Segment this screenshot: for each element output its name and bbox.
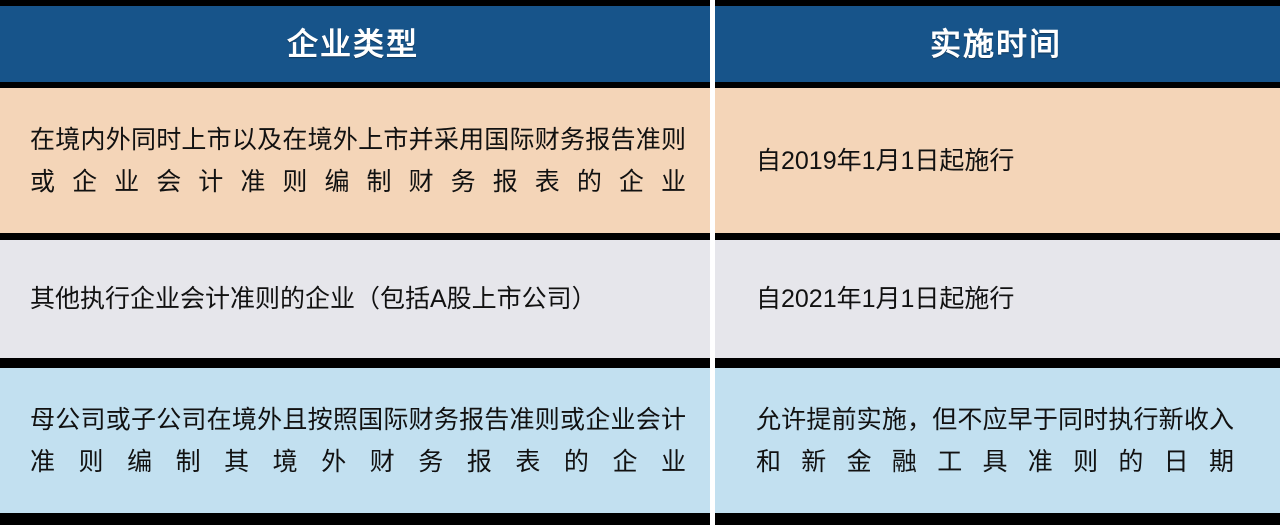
comparison-table: 企业类型 实施时间 在境内外同时上市以及在境外上市并采用国际财务报告准则或企业会… [0, 0, 1280, 525]
table-row: 在境内外同时上市以及在境外上市并采用国际财务报告准则或企业会计准则编制财务报表的… [0, 88, 1280, 233]
table-header-cell-implementation-time: 实施时间 [712, 6, 1280, 82]
table-cell-implementation-time: 自2021年1月1日起施行 [712, 240, 1280, 358]
enterprise-type-text: 在境内外同时上市以及在境外上市并采用国际财务报告准则或企业会计准则编制财务报表的… [30, 119, 686, 203]
table-cell-implementation-time: 允许提前实施，但不应早于同时执行新收入和新金融工具准则的日期 [712, 368, 1280, 513]
table-row: 其他执行企业会计准则的企业（包括A股上市公司） 自2021年1月1日起施行 [0, 240, 1280, 358]
column-header-label-implementation-time: 实施时间 [930, 29, 1062, 60]
table-cell-enterprise-type: 母公司或子公司在境外且按照国际财务报告准则或企业会计准则编制其境外财务报表的企业 [0, 368, 712, 513]
table-cell-enterprise-type: 在境内外同时上市以及在境外上市并采用国际财务报告准则或企业会计准则编制财务报表的… [0, 88, 712, 233]
column-header-label-enterprise-type: 企业类型 [287, 29, 419, 60]
table-cell-enterprise-type: 其他执行企业会计准则的企业（包括A股上市公司） [0, 240, 712, 358]
table-cell-implementation-time: 自2019年1月1日起施行 [712, 88, 1280, 233]
table-header-cell-enterprise-type: 企业类型 [0, 6, 706, 82]
implementation-time-text: 自2019年1月1日起施行 [756, 140, 1014, 182]
implementation-time-text: 自2021年1月1日起施行 [756, 278, 1014, 320]
table-header-row: 企业类型 实施时间 [0, 6, 1280, 82]
enterprise-type-text: 其他执行企业会计准则的企业（包括A股上市公司） [30, 278, 690, 320]
column-divider [710, 0, 715, 525]
implementation-time-text: 允许提前实施，但不应早于同时执行新收入和新金融工具准则的日期 [756, 399, 1234, 483]
enterprise-type-text: 母公司或子公司在境外且按照国际财务报告准则或企业会计准则编制其境外财务报表的企业 [30, 399, 686, 483]
table-row: 母公司或子公司在境外且按照国际财务报告准则或企业会计准则编制其境外财务报表的企业… [0, 368, 1280, 513]
